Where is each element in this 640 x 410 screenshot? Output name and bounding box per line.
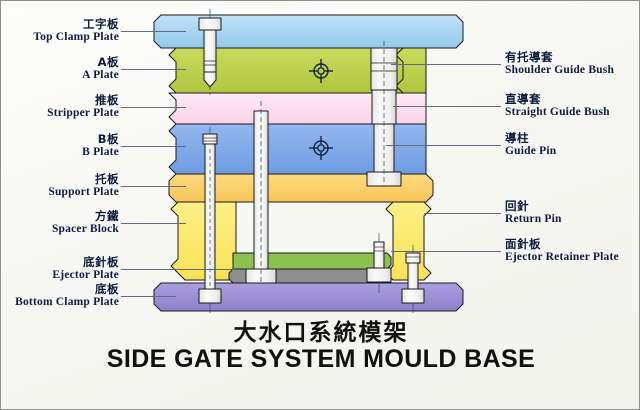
label-stripper-plate-cn: 推板 — [1, 95, 119, 107]
label-ejector-plate-cn: 底針板 — [1, 257, 119, 269]
leader-line-top-clamp-plate — [121, 31, 186, 32]
label-guide-pin-en: Guide Pin — [505, 146, 556, 158]
label-shoulder-guide-bush: 有托導套 Shoulder Guide Bush — [505, 52, 614, 76]
leader-line-ejector-plate — [121, 269, 236, 270]
leader-line-return-pin — [424, 213, 501, 214]
label-shoulder-guide-bush-en: Shoulder Guide Bush — [505, 65, 614, 77]
label-top-clamp-plate-cn: 工字板 — [1, 19, 119, 31]
label-spacer-block: 方鐵 Spacer Block — [1, 211, 119, 235]
label-ejector-plate-en: Ejector Plate — [1, 270, 119, 282]
leader-line-ejector-retainer-plate — [391, 251, 501, 252]
label-bottom-clamp-plate-en: Bottom Clamp Plate — [1, 297, 119, 309]
label-ejector-plate: 底針板 Ejector Plate — [1, 257, 119, 281]
label-return-pin-cn: 回針 — [505, 201, 562, 213]
label-guide-pin: 導柱 Guide Pin — [505, 133, 556, 157]
label-a-plate-cn: A板 — [1, 57, 119, 69]
label-return-pin-en: Return Pin — [505, 214, 562, 226]
label-guide-pin-cn: 導柱 — [505, 133, 556, 145]
label-top-clamp-plate-en: Top Clamp Plate — [1, 32, 119, 44]
label-stripper-plate: 推板 Stripper Plate — [1, 95, 119, 119]
label-bottom-clamp-plate: 底板 Bottom Clamp Plate — [1, 284, 119, 308]
label-a-plate: A板 A Plate — [1, 57, 119, 81]
label-b-plate-cn: B板 — [1, 134, 119, 146]
label-support-plate: 托板 Support Plate — [1, 174, 119, 198]
label-spacer-block-cn: 方鐵 — [1, 211, 119, 223]
label-a-plate-en: A Plate — [1, 70, 119, 82]
leader-line-b-plate — [121, 146, 186, 147]
label-ejector-retainer-plate-cn: 面針板 — [505, 239, 619, 251]
label-straight-guide-bush-en: Straight Guide Bush — [505, 107, 610, 119]
label-top-clamp-plate: 工字板 Top Clamp Plate — [1, 19, 119, 43]
leader-line-shoulder-guide-bush — [391, 64, 501, 65]
label-b-plate: B板 B Plate — [1, 134, 119, 158]
label-straight-guide-bush: 直導套 Straight Guide Bush — [505, 94, 610, 118]
label-b-plate-en: B Plate — [1, 147, 119, 159]
label-support-plate-cn: 托板 — [1, 174, 119, 186]
leader-line-bottom-clamp-plate — [121, 296, 176, 297]
mould-base-diagram-page: 工字板 Top Clamp Plate A板 A Plate 推板 Stripp… — [0, 0, 640, 410]
leader-line-guide-pin — [386, 145, 501, 146]
label-shoulder-guide-bush-cn: 有托導套 — [505, 52, 614, 64]
label-support-plate-en: Support Plate — [1, 187, 119, 199]
label-bottom-clamp-plate-cn: 底板 — [1, 284, 119, 296]
title-chinese: 大水口系統模架 — [1, 313, 640, 347]
label-stripper-plate-en: Stripper Plate — [1, 108, 119, 120]
label-ejector-retainer-plate: 面針板 Ejector Retainer Plate — [505, 239, 619, 263]
label-return-pin: 回針 Return Pin — [505, 201, 562, 225]
label-spacer-block-en: Spacer Block — [1, 224, 119, 236]
leader-line-support-plate — [121, 186, 186, 187]
leader-line-a-plate — [121, 69, 186, 70]
leader-line-stripper-plate — [121, 107, 186, 108]
label-ejector-retainer-plate-en: Ejector Retainer Plate — [505, 252, 619, 264]
title-english: SIDE GATE SYSTEM MOULD BASE — [1, 345, 640, 374]
leader-line-spacer-block — [121, 223, 186, 224]
leader-line-straight-guide-bush — [393, 106, 501, 107]
label-straight-guide-bush-cn: 直導套 — [505, 94, 610, 106]
